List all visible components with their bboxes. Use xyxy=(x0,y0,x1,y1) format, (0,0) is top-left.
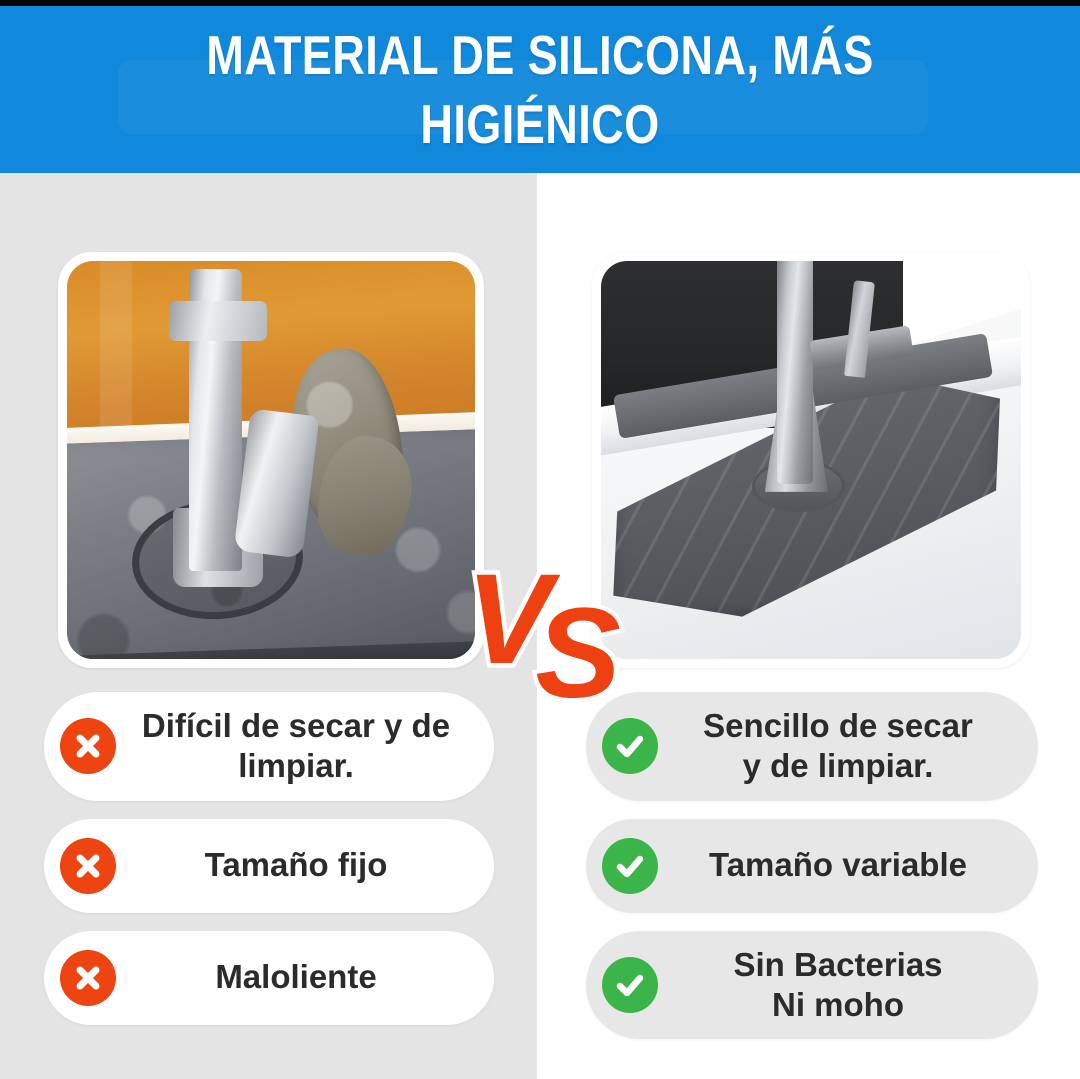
circle-x-icon xyxy=(60,838,116,894)
list-item-label: Maloliente xyxy=(130,957,478,997)
circle-check-icon xyxy=(602,718,658,774)
photo-faucet-collar xyxy=(169,301,267,341)
list-item[interactable]: Sin Bacterias Ni moho xyxy=(586,931,1038,1040)
list-item[interactable]: Difícil de secar y de limpiar. xyxy=(44,692,494,801)
list-item[interactable]: Tamaño variable xyxy=(586,819,1038,913)
right-photo-frame xyxy=(592,252,1030,668)
comparison-body: VS Difícil de secar y de limpiar. Tamaño… xyxy=(0,173,1080,1079)
list-item[interactable]: Maloliente xyxy=(44,931,494,1025)
header-banner: MATERIAL DE SILICONA, MÁS HIGIÉNICO xyxy=(0,6,1080,173)
left-feature-list: Difícil de secar y de limpiar. Tamaño fi… xyxy=(44,692,494,1043)
page-title: MATERIAL DE SILICONA, MÁS HIGIÉNICO xyxy=(97,6,983,173)
list-item-label: Tamaño fijo xyxy=(130,845,478,885)
list-item-label: Tamaño variable xyxy=(672,845,1022,885)
left-photo-dirty-fabric-mat xyxy=(67,261,475,659)
list-item-label: Sencillo de secar y de limpiar. xyxy=(672,706,1022,787)
circle-check-icon xyxy=(602,957,658,1013)
right-feature-list: Sencillo de secar y de limpiar. Tamaño v… xyxy=(586,692,1038,1057)
page-title-line-1: MATERIAL DE SILICONA, MÁS xyxy=(206,28,874,83)
list-item[interactable]: Tamaño fijo xyxy=(44,819,494,913)
circle-x-icon xyxy=(60,718,116,774)
circle-check-icon xyxy=(602,838,658,894)
list-item-label: Sin Bacterias Ni moho xyxy=(672,945,1022,1026)
page-title-line-2: HIGIÉNICO xyxy=(420,97,659,152)
list-item[interactable]: Sencillo de secar y de limpiar. xyxy=(586,692,1038,801)
right-photo-silicone-mat xyxy=(601,261,1021,659)
list-item-label: Difícil de secar y de limpiar. xyxy=(130,706,478,787)
vs-letter-v: V xyxy=(466,556,545,684)
vs-badge: VS xyxy=(466,556,615,718)
circle-x-icon xyxy=(60,950,116,1006)
vs-letter-s: S xyxy=(535,590,614,718)
photo-mat-edge xyxy=(67,640,475,659)
photo-faucet-neck xyxy=(777,261,813,484)
left-photo-frame xyxy=(58,252,484,668)
